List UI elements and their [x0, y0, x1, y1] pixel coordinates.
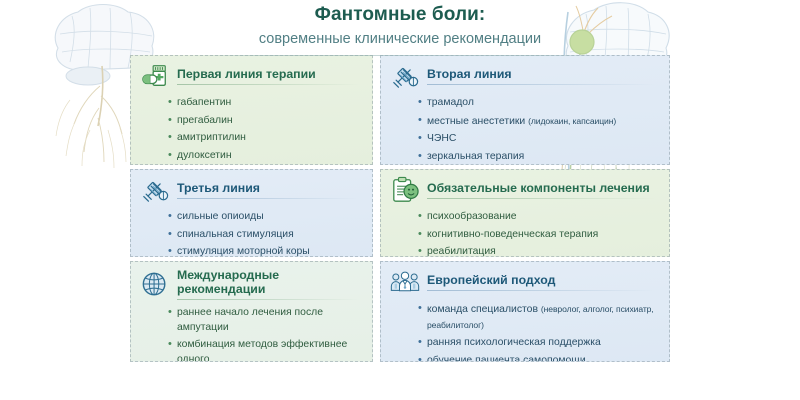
- card-second-line[interactable]: Вторая линия трамадол местные анестетики…: [380, 55, 670, 165]
- card-header: Европейский подход: [390, 268, 660, 299]
- card-header: Обязательные компоненты лечения: [390, 176, 660, 207]
- list-item: прегабалин: [168, 114, 363, 132]
- card-third-line[interactable]: Третья линия сильные опиоиды спинальная …: [130, 169, 373, 257]
- syringe-icon: [140, 176, 170, 204]
- list-item: психообразование: [418, 210, 660, 228]
- card-bullet-list: команда специалистов (невролог, алголог,…: [390, 302, 660, 362]
- card-bullet-list: сильные опиоиды спинальная стимуляция ст…: [140, 210, 363, 257]
- globe-icon: [140, 270, 170, 298]
- card-bullet-list: психообразование когнитивно-поведенческа…: [390, 210, 660, 257]
- card-title: Третья линия: [177, 181, 363, 199]
- list-item: габапентин: [168, 96, 363, 114]
- list-item: стимуляция моторной коры: [168, 245, 363, 257]
- infographic-page: Фантомные боли: современные клинические …: [0, 0, 800, 400]
- list-item: трамадол: [418, 96, 660, 114]
- list-item: зеркальная терапия: [418, 150, 660, 166]
- card-header: Вторая линия: [390, 62, 660, 93]
- header-divider: [190, 55, 610, 56]
- list-item-note: (лидокаин, капсаицин): [528, 116, 616, 126]
- list-item: когнитивно-поведенческая терапия: [418, 228, 660, 246]
- list-item: раннее начало лечения после ампутации: [168, 306, 363, 338]
- card-first-line-therapy[interactable]: Первая линия терапии габапентин прегабал…: [130, 55, 373, 165]
- card-title: Европейский подход: [427, 273, 660, 291]
- list-item: местные анестетики (лидокаин, капсаицин): [418, 114, 660, 133]
- card-header: Третья линия: [140, 176, 363, 207]
- page-subtitle: современные клинические рекомендации: [0, 29, 800, 49]
- card-international-recommendations[interactable]: Международные рекомендации раннее начало…: [130, 261, 373, 362]
- clipboard-checklist-icon: [390, 176, 420, 204]
- card-bullet-list: раннее начало лечения после ампутации ко…: [140, 306, 363, 362]
- card-header: Первая линия терапии: [140, 62, 363, 93]
- pill-bottle-icon: [140, 62, 170, 90]
- list-item: сильные опиоиды: [168, 210, 363, 228]
- list-item: дулоксетин: [168, 149, 363, 166]
- list-item: команда специалистов (невролог, алголог,…: [418, 302, 660, 336]
- list-item: спинальная стимуляция: [168, 228, 363, 246]
- syringe-icon: [390, 62, 420, 90]
- card-bullet-list: трамадол местные анестетики (лидокаин, к…: [390, 96, 660, 165]
- card-title: Международные рекомендации: [177, 268, 363, 300]
- card-european-approach[interactable]: Европейский подход команда специалистов …: [380, 261, 670, 362]
- list-item: обучение пациента самопомощи: [418, 354, 660, 363]
- header: Фантомные боли: современные клинические …: [0, 0, 800, 56]
- card-title: Первая линия терапии: [177, 67, 363, 85]
- cards-grid: Первая линия терапии габапентин прегабал…: [130, 55, 670, 362]
- list-item: ранняя психологическая поддержка: [418, 336, 660, 354]
- card-mandatory-components[interactable]: Обязательные компоненты лечения психообр…: [380, 169, 670, 257]
- card-title: Вторая линия: [427, 67, 660, 85]
- list-item: амитриптилин: [168, 131, 363, 149]
- list-item: комбинация методов эффективнее одного: [168, 338, 363, 362]
- card-bullet-list: габапентин прегабалин амитриптилин дулок…: [140, 96, 363, 165]
- card-title: Обязательные компоненты лечения: [427, 181, 660, 199]
- medical-team-icon: [390, 268, 420, 296]
- list-item: ЧЭНС: [418, 132, 660, 150]
- card-header: Международные рекомендации: [140, 268, 363, 303]
- page-title: Фантомные боли:: [0, 4, 800, 26]
- list-item: реабилитация: [418, 245, 660, 257]
